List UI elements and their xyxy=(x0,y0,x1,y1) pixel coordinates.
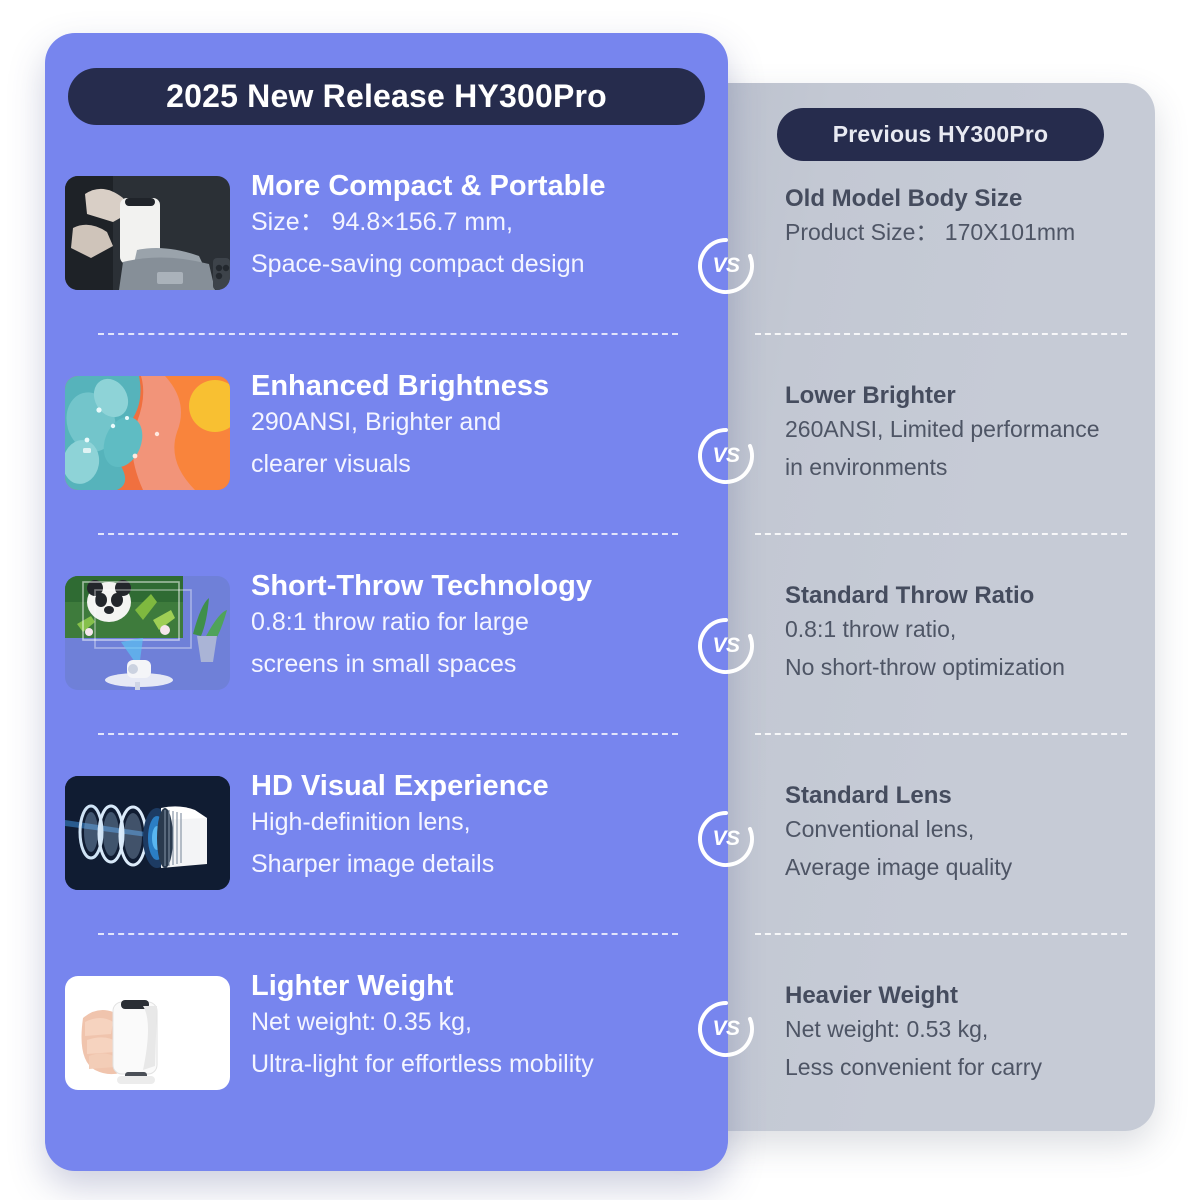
feature-line-1: 0.8:1 throw ratio for large xyxy=(251,602,592,644)
feature-divider xyxy=(98,933,678,935)
feature-line-2: Ultra-light for effortless mobility xyxy=(251,1044,594,1086)
old-feature-title: Heavier Weight xyxy=(785,980,1155,1011)
vs-badge-label: VS xyxy=(697,810,755,868)
old-feature-line-1: Conventional lens, xyxy=(785,811,1155,849)
feature-line-2: clearer visuals xyxy=(251,444,549,486)
vs-badge-label: VS xyxy=(697,617,755,675)
feature-divider xyxy=(98,533,678,535)
old-feature-title: Old Model Body Size xyxy=(785,183,1155,214)
feature-text-compact: More Compact & Portable Size： 94.8×156.7… xyxy=(251,170,606,285)
vs-badge-icon: VS xyxy=(697,237,755,295)
lens-elements-exploded-photo xyxy=(65,776,230,890)
feature-row-lighter-weight: Lighter Weight Net weight: 0.35 kg, Ultr… xyxy=(45,970,728,1090)
feature-row-short-throw: Short-Throw Technology 0.8:1 throw ratio… xyxy=(45,570,728,690)
old-row-throw-ratio: Standard Throw Ratio 0.8:1 throw ratio, … xyxy=(785,580,1155,687)
feature-row-brightness: Enhanced Brightness 290ANSI, Brighter an… xyxy=(45,370,728,490)
old-feature-line-2: Less convenient for carry xyxy=(785,1049,1155,1087)
old-row-body-size: Old Model Body Size Product Size： 170X10… xyxy=(785,183,1155,252)
vs-badge-icon: VS xyxy=(697,810,755,868)
feature-text-short-throw: Short-Throw Technology 0.8:1 throw ratio… xyxy=(251,570,592,685)
feature-divider xyxy=(98,333,678,335)
feature-line-1: Net weight: 0.35 kg, xyxy=(251,1002,594,1044)
vs-badge-label: VS xyxy=(697,237,755,295)
hand-holding-projector-photo xyxy=(65,976,230,1090)
old-feature-line-2: Average image quality xyxy=(785,849,1155,887)
feature-title: Enhanced Brightness xyxy=(251,370,549,402)
vs-badge-icon: VS xyxy=(697,427,755,485)
feature-line-2: Sharper image details xyxy=(251,844,549,886)
feature-text-lighter-weight: Lighter Weight Net weight: 0.35 kg, Ultr… xyxy=(251,970,594,1085)
feature-title: HD Visual Experience xyxy=(251,770,549,802)
vs-badge-icon: VS xyxy=(697,617,755,675)
old-feature-title: Standard Lens xyxy=(785,780,1155,811)
projected-panda-screen-photo xyxy=(65,576,230,690)
old-feature-divider xyxy=(755,333,1127,335)
old-row-lens: Standard Lens Conventional lens, Average… xyxy=(785,780,1155,887)
feature-line-1: 290ANSI, Brighter and xyxy=(251,402,549,444)
old-row-brightness: Lower Brighter 260ANSI, Limited performa… xyxy=(785,380,1155,487)
projector-in-backpack-photo xyxy=(65,176,230,290)
feature-row-compact: More Compact & Portable Size： 94.8×156.7… xyxy=(45,170,728,290)
old-feature-line-1: Product Size： 170X101mm xyxy=(785,214,1155,252)
vs-badge-icon: VS xyxy=(697,1000,755,1058)
new-model-feature-list: More Compact & Portable Size： 94.8×156.7… xyxy=(45,33,728,1171)
old-feature-title: Lower Brighter xyxy=(785,380,1155,411)
old-feature-line-1: Net weight: 0.53 kg, xyxy=(785,1011,1155,1049)
old-feature-line-1: 260ANSI, Limited performance xyxy=(785,411,1155,449)
feature-row-hd-visual: HD Visual Experience High-definition len… xyxy=(45,770,728,890)
old-feature-divider xyxy=(755,733,1127,735)
feature-line-1: Size： 94.8×156.7 mm, xyxy=(251,202,606,244)
feature-title: More Compact & Portable xyxy=(251,170,606,202)
old-feature-divider xyxy=(755,933,1127,935)
old-feature-line-1: 0.8:1 throw ratio, xyxy=(785,611,1155,649)
feature-line-1: High-definition lens, xyxy=(251,802,549,844)
feature-title: Lighter Weight xyxy=(251,970,594,1002)
feature-line-2: Space-saving compact design xyxy=(251,244,606,286)
colorful-flowers-render-photo xyxy=(65,376,230,490)
vs-badge-label: VS xyxy=(697,427,755,485)
feature-divider xyxy=(98,733,678,735)
vs-badge-label: VS xyxy=(697,1000,755,1058)
feature-text-hd-visual: HD Visual Experience High-definition len… xyxy=(251,770,549,885)
old-feature-line-2: in environments xyxy=(785,449,1155,487)
feature-title: Short-Throw Technology xyxy=(251,570,592,602)
old-row-weight: Heavier Weight Net weight: 0.53 kg, Less… xyxy=(785,980,1155,1087)
feature-text-brightness: Enhanced Brightness 290ANSI, Brighter an… xyxy=(251,370,549,485)
feature-line-2: screens in small spaces xyxy=(251,644,592,686)
old-feature-title: Standard Throw Ratio xyxy=(785,580,1155,611)
old-feature-divider xyxy=(755,533,1127,535)
old-feature-line-2: No short-throw optimization xyxy=(785,649,1155,687)
comparison-infographic: 2025 New Release HY300Pro Previous HY300… xyxy=(0,0,1200,1200)
